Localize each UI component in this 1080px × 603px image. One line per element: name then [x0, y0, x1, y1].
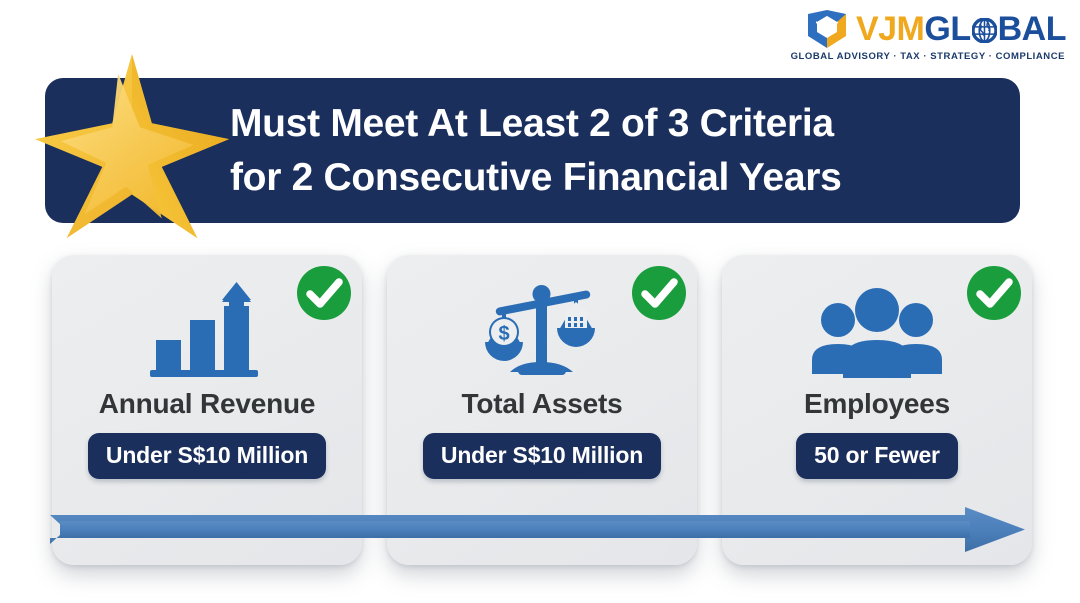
- banner-headline-line1: Must Meet At Least 2 of 3 Criteria: [230, 97, 990, 151]
- card-badge-row: 50 or Fewer: [722, 433, 1032, 479]
- card-badge: Under S$10 Million: [423, 433, 661, 479]
- hexagon-cube-icon: [804, 8, 850, 50]
- card-badge-row: Under S$10 Million: [387, 433, 697, 479]
- card-badge-row: Under S$10 Million: [52, 433, 362, 479]
- brand-logo: VJMGLBAL GLOBAL ADVISORY · TAX · STRATEG…: [791, 8, 1066, 62]
- card-title: Employees: [722, 388, 1032, 420]
- card-badge: Under S$10 Million: [88, 433, 326, 479]
- banner-headline-line2: for 2 Consecutive Financial Years: [230, 151, 990, 205]
- logo-text-vjm: VJM: [856, 12, 924, 46]
- card-icon-wrap: [52, 277, 362, 387]
- card-title: Annual Revenue: [52, 388, 362, 420]
- eight-point-star-icon: [33, 52, 231, 250]
- card-icon-wrap: $: [387, 277, 697, 387]
- card-badge: 50 or Fewer: [796, 433, 958, 479]
- logo-row: VJMGLBAL: [804, 8, 1066, 50]
- right-arrow-icon: [50, 507, 1035, 552]
- people-group-icon: [812, 286, 942, 378]
- bar-chart-growth-icon: [148, 282, 266, 382]
- svg-text:$: $: [498, 323, 509, 345]
- logo-text-bal: BAL: [998, 12, 1066, 46]
- logo-text-gl: GL: [924, 12, 970, 46]
- logo-tagline: GLOBAL ADVISORY · TAX · STRATEGY · COMPL…: [791, 51, 1065, 62]
- balance-scale-icon: $: [480, 282, 605, 382]
- card-title: Total Assets: [387, 388, 697, 420]
- globe-icon: [972, 18, 997, 43]
- card-icon-wrap: [722, 277, 1032, 387]
- logo-wordmark: VJMGLBAL: [856, 12, 1066, 46]
